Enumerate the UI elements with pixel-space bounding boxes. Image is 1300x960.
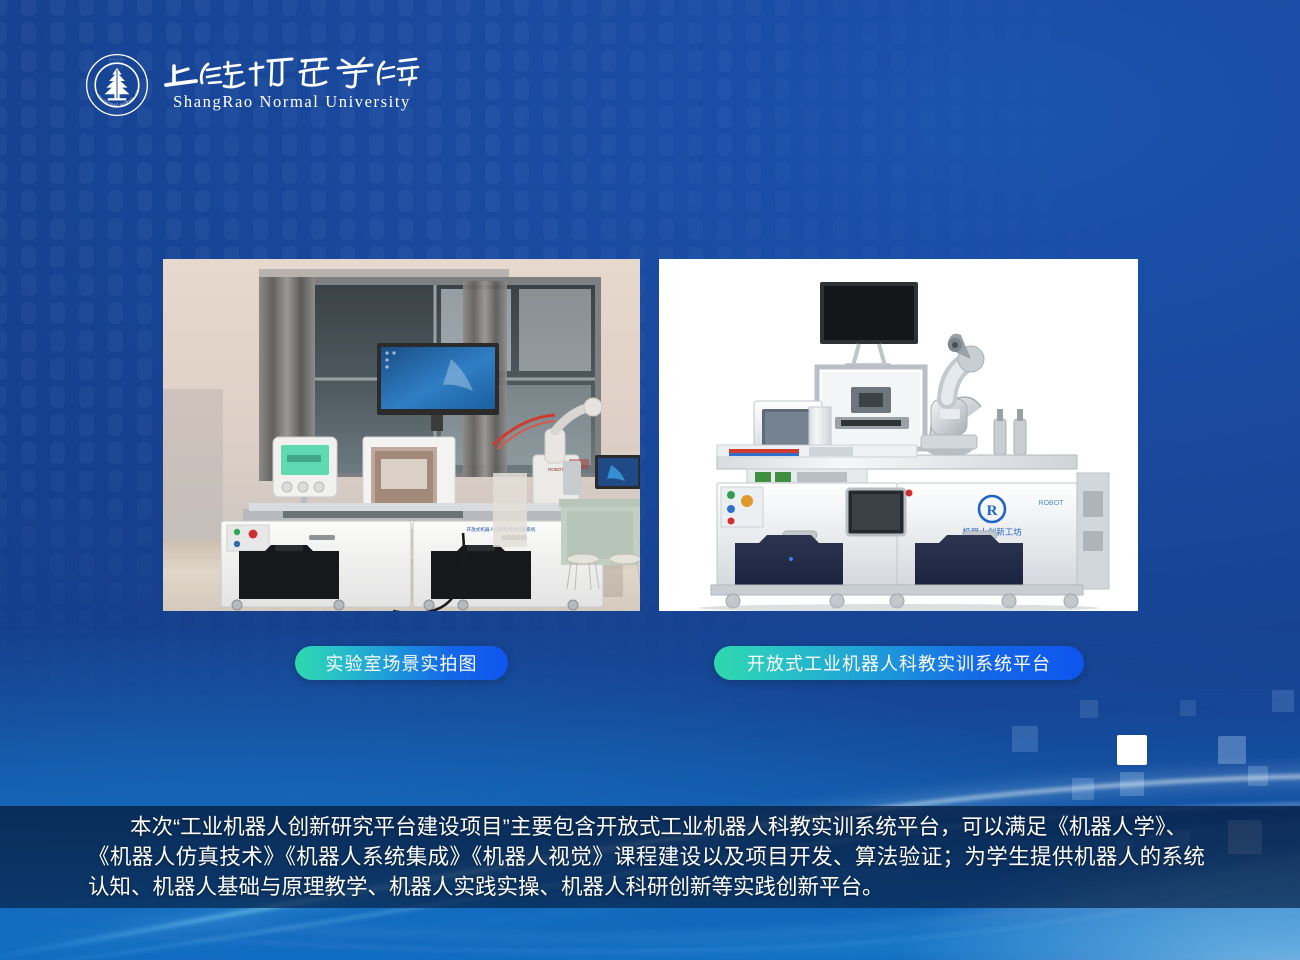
- description-line-1: 本次“工业机器人创新研究平台建设项目”主要包含开放式工业机器人科教实训系统平台，…: [88, 812, 1214, 842]
- robot-training-system-photo[interactable]: R 机器人创新工坊 ROBOT: [659, 259, 1138, 611]
- slide-stage: · · · · · SHANGRAO NORMAL COLLEGE: [0, 0, 1300, 960]
- description-line-3: 认知、机器人基础与原理教学、机器人实践实操、机器人科研创新等实践创新平台。: [88, 872, 1214, 902]
- caption-pill-system-label: 开放式工业机器人科教实训系统平台: [747, 650, 1051, 676]
- caption-pill-lab-label: 实验室场景实拍图: [326, 650, 478, 676]
- description-paragraph: 本次“工业机器人创新研究平台建设项目”主要包含开放式工业机器人科教实训系统平台，…: [88, 812, 1214, 902]
- brand-r-icon: R: [987, 503, 998, 519]
- svg-text:ROBOT: ROBOT: [1039, 500, 1065, 507]
- description-line-2: 《机器人仿真技术》《机器人系统集成》《机器人视觉》课程建设以及项目开发、算法验证…: [88, 842, 1214, 872]
- university-name-en: ShangRao Normal University: [173, 92, 411, 111]
- caption-pill-system[interactable]: 开放式工业机器人科教实训系统平台: [714, 646, 1084, 680]
- university-seal-icon: · · · · · SHANGRAO NORMAL COLLEGE: [84, 52, 150, 118]
- university-logo: · · · · · SHANGRAO NORMAL COLLEGE: [84, 52, 420, 118]
- svg-text:ROBOT: ROBOT: [548, 467, 564, 472]
- caption-pill-lab[interactable]: 实验室场景实拍图: [295, 646, 508, 680]
- svg-text:· · · · ·: · · · · ·: [110, 57, 125, 63]
- laboratory-photo[interactable]: ROBOT 开放式机器人控制和视觉科教系统: [163, 259, 640, 611]
- university-wordmark: ShangRao Normal University: [164, 52, 420, 118]
